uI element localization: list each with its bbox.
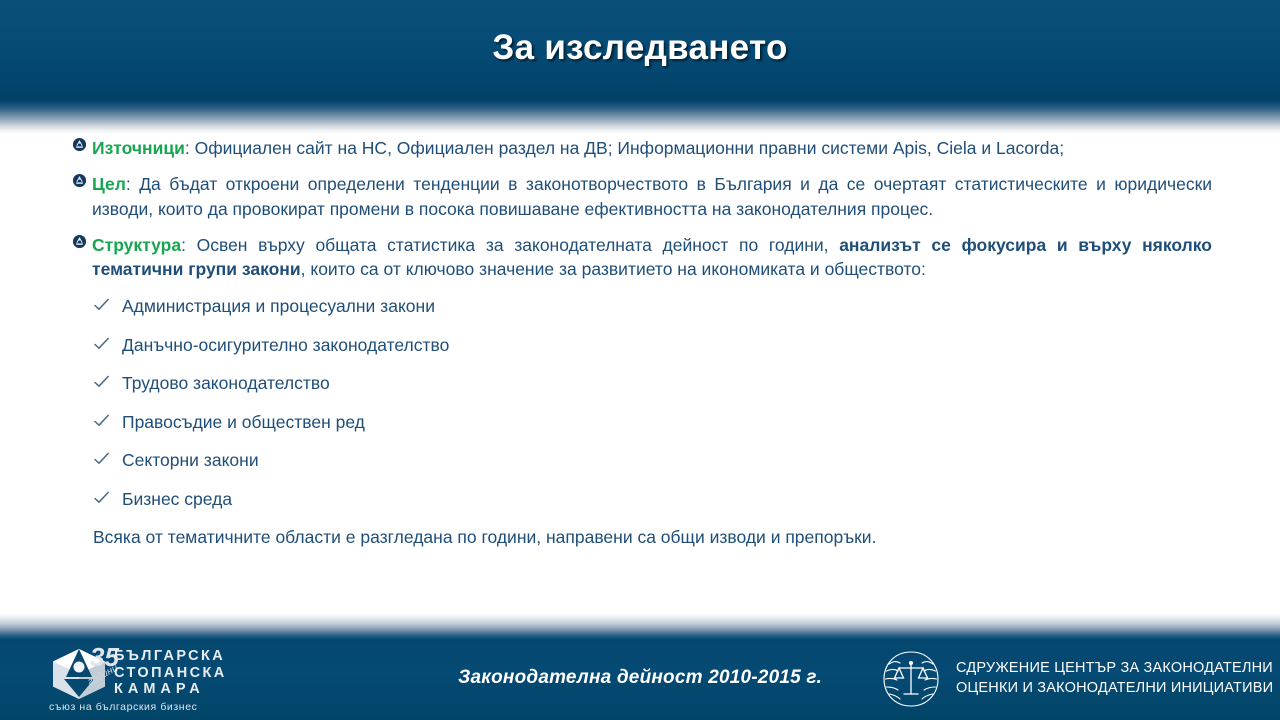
bullet-separator: : [185,138,195,158]
bullet-keyword: Структура [92,235,181,255]
list-item-label: Правосъдие и обществен ред [122,412,365,432]
club-bullet-icon [72,173,88,189]
list-item-label: Администрация и процесуални закони [122,296,435,316]
bullet-goal: Цел: Да бъдат откроени определени тенден… [0,172,1280,222]
check-icon [93,373,110,390]
clai-logo: СДРУЖЕНИЕ ЦЕНТЪР ЗА ЗАКОНОДАТЕЛНИ ОЦЕНКИ… [880,648,1270,710]
bullet-keyword: Цел [92,174,126,194]
list-item-label: Трудово законодателство [122,373,330,393]
bullet-text-lead: Освен върху общата статистика за законод… [197,235,840,255]
bullet-keyword: Източници [92,138,185,158]
bullet-text-tail: , които са от ключово значение за развит… [301,259,926,279]
header-gradient-divider [0,101,1280,134]
page-title: За изследването [0,28,1280,68]
bullet-separator: : [126,174,139,194]
list-item: Правосъдие и обществен ред [0,412,1280,433]
check-icon [93,335,110,352]
check-icon [93,296,110,313]
club-bullet-icon [72,137,88,153]
list-item: Секторни закони [0,450,1280,471]
list-item: Бизнес среда [0,489,1280,510]
list-item: Трудово законодателство [0,373,1280,394]
list-item: Данъчно-осигурително законодателство [0,335,1280,356]
scales-of-justice-wreath-icon [880,648,942,710]
list-item-label: Бизнес среда [122,489,232,509]
check-icon [93,489,110,506]
footer-gradient-divider [0,613,1280,639]
clai-wordmark: СДРУЖЕНИЕ ЦЕНТЪР ЗА ЗАКОНОДАТЕЛНИ ОЦЕНКИ… [956,658,1273,698]
bullet-text: Официален сайт на НС, Официален раздел н… [195,138,1064,158]
closing-paragraph: Всяка от тематичните области е разгледан… [0,527,1280,548]
bullet-structure: Структура: Освен върху общата статистика… [0,233,1280,283]
thematic-groups-list: Администрация и процесуални закони Данъч… [0,296,1280,510]
list-item-label: Данъчно-осигурително законодателство [122,335,449,355]
check-icon [93,412,110,429]
slide: За изследването Източници: Официален сай… [0,0,1280,720]
bullet-text: Да бъдат откроени определени тенденции в… [92,174,1212,219]
check-icon [93,450,110,467]
bia-wordmark-line1: БЪЛГАРСКА [114,648,225,664]
clai-wordmark-line1: СДРУЖЕНИЕ ЦЕНТЪР ЗА ЗАКОНОДАТЕЛНИ [956,660,1273,676]
bullet-separator: : [181,235,197,255]
clai-wordmark-line2: ОЦЕНКИ И ЗАКОНОДАТЕЛНИ ИНИЦИАТИВИ [956,680,1273,696]
slide-content: Източници: Официален сайт на НС, Официал… [0,136,1280,606]
list-item: Администрация и процесуални закони [0,296,1280,317]
list-item-label: Секторни закони [122,450,259,470]
bia-tagline: съюз на българския бизнес [49,701,257,713]
club-bullet-icon [72,234,88,250]
bullet-sources: Източници: Официален сайт на НС, Официал… [0,136,1280,161]
